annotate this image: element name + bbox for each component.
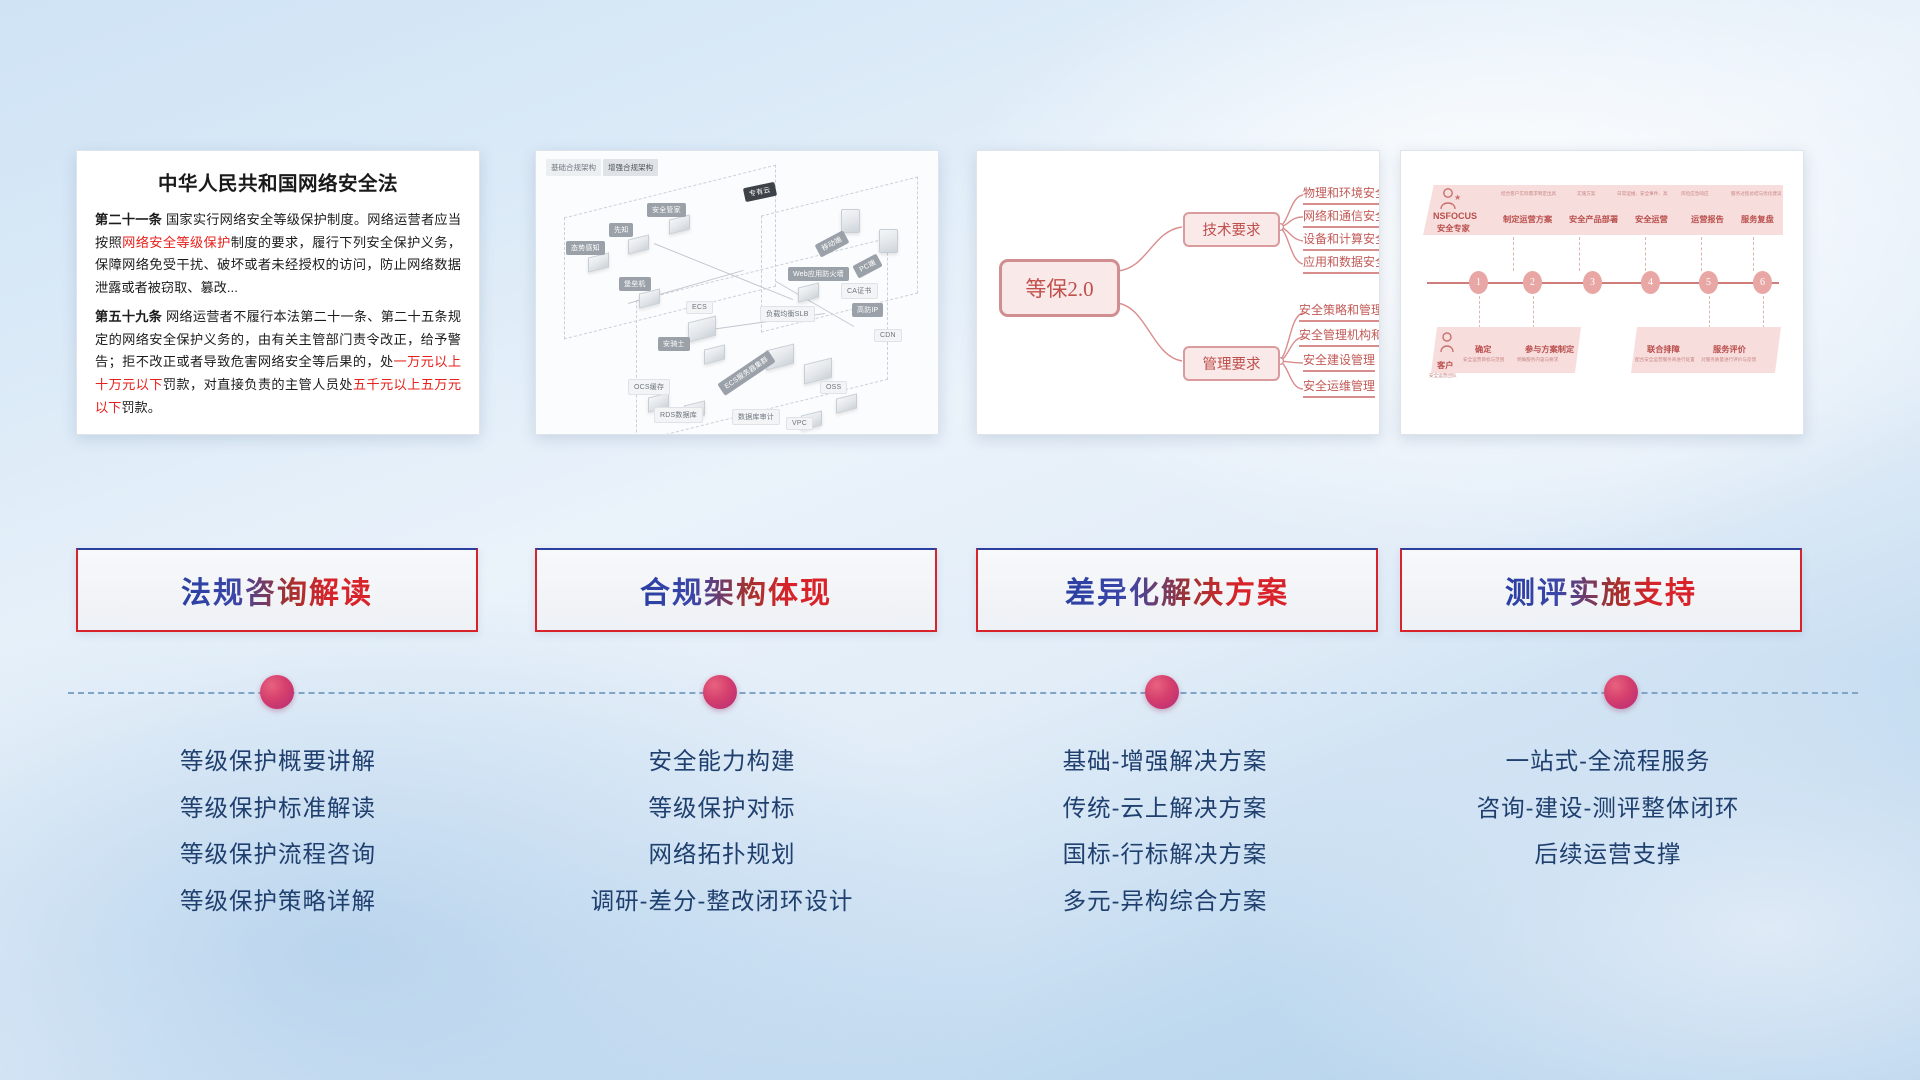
- law-article-59-text-c: 罚款。: [121, 400, 161, 415]
- architecture-node-vpc: VPC: [786, 417, 813, 430]
- timeline-node-4[interactable]: [1604, 675, 1638, 709]
- svg-text:★: ★: [1454, 193, 1461, 202]
- architecture-node-db-audit: 数据库审计: [732, 409, 780, 425]
- expert-icon: ★: [1437, 187, 1465, 213]
- nsfocus-step-dot: 5: [1699, 271, 1718, 294]
- architecture-node-ca-cert: CA证书: [841, 283, 878, 299]
- list-item: 咨询-建设-测评整体闭环: [1398, 787, 1818, 834]
- mindmap-leaf: 安全建设管理: [1303, 351, 1375, 372]
- section-title-box-3[interactable]: 差异化解决方案: [976, 548, 1378, 632]
- nsfocus-top-sub: 服务过程总结与优化建议: [1731, 191, 1782, 197]
- nsfocus-process-diagram: ★ NSFOCUS 安全专家 结合客户实际需求制定出具 制定运营方案 实施方案 …: [1401, 151, 1803, 434]
- nsfocus-expert-role: 安全专家: [1437, 222, 1470, 234]
- mindmap-leaf: 应用和数据安全: [1303, 253, 1380, 274]
- architecture-tab-enhanced[interactable]: 增强合规架构: [603, 159, 658, 176]
- list-item: 等级保护流程咨询: [68, 833, 488, 880]
- nsfocus-top-sub: 风险应急响应: [1681, 191, 1709, 197]
- detail-column-2: 安全能力构建 等级保护对标 网络拓扑规划 调研-差分-整改闭环设计: [512, 740, 932, 926]
- nsfocus-bottom-sub: 安全运营目标与范围: [1463, 357, 1504, 363]
- law-title: 中华人民共和国网络安全法: [95, 167, 461, 196]
- nsfocus-brand: NSFOCUS: [1433, 211, 1477, 221]
- timeline: [0, 662, 1920, 722]
- nsfocus-bottom-step: 联合排障: [1647, 343, 1680, 355]
- detail-column-4: 一站式-全流程服务 咨询-建设-测评整体闭环 后续运营支撑: [1398, 740, 1818, 880]
- nsfocus-customer-role: 客户: [1437, 359, 1453, 371]
- nsfocus-bottom-step: 参与方案制定: [1525, 343, 1574, 355]
- architecture-diagram: 基础合规架构 增强合规架构 专有云 态势感知 先知 安全管家 堡垒机: [536, 151, 938, 434]
- list-item: 等级保护策略详解: [68, 880, 488, 927]
- nsfocus-top-step: 制定运营方案: [1503, 213, 1552, 225]
- nsfocus-top-step: 运营报告: [1691, 213, 1724, 225]
- architecture-node-anqishi: 安骑士: [658, 337, 690, 351]
- detail-column-3: 基础-增强解决方案 传统-云上解决方案 国标-行标解决方案 多元-异构综合方案: [955, 740, 1375, 926]
- list-item: 基础-增强解决方案: [955, 740, 1375, 787]
- architecture-node-slb: 负载均衡SLB: [760, 306, 815, 322]
- architecture-node-waf: Web应用防火墙: [788, 267, 849, 281]
- mindmap-diagram: 等保2.0 技术要求 管理要求 物理和环境安全 网络和通信安全 设备和计算安全 …: [977, 151, 1379, 434]
- timeline-dashed-line: [68, 692, 1858, 694]
- card-compliance-architecture[interactable]: 基础合规架构 增强合规架构 专有云 态势感知 先知 安全管家 堡垒机: [535, 150, 939, 435]
- nsfocus-step-dot: 6: [1753, 271, 1772, 294]
- slide-canvas: 中华人民共和国网络安全法 第二十一条 国家实行网络安全等级保护制度。网络运营者应…: [0, 0, 1920, 1080]
- mindmap-branch-management: 管理要求: [1183, 346, 1280, 381]
- list-item: 后续运营支撑: [1398, 833, 1818, 880]
- card-nsfocus-service-process[interactable]: ★ NSFOCUS 安全专家 结合客户实际需求制定出具 制定运营方案 实施方案 …: [1400, 150, 1804, 435]
- architecture-node-anti-ddos-ip: 高防IP: [852, 303, 883, 317]
- timeline-node-3[interactable]: [1145, 675, 1179, 709]
- timeline-node-1[interactable]: [260, 675, 294, 709]
- nsfocus-top-sub: 结合客户实际需求制定出具: [1501, 191, 1556, 197]
- list-item: 传统-云上解决方案: [955, 787, 1375, 834]
- nsfocus-top-step: 安全运营: [1635, 213, 1668, 225]
- mindmap-leaf: 设备和计算安全: [1303, 230, 1380, 251]
- section-title-box-2[interactable]: 合规架构体现: [535, 548, 937, 632]
- mindmap-leaf: 物理和环境安全: [1303, 184, 1380, 205]
- nsfocus-top-step: 安全产品部署: [1569, 213, 1618, 225]
- list-item: 调研-差分-整改闭环设计: [512, 880, 932, 927]
- list-item: 等级保护标准解读: [68, 787, 488, 834]
- nsfocus-step-dot: 4: [1641, 271, 1660, 294]
- mindmap-branch-technical: 技术要求: [1183, 212, 1280, 247]
- nsfocus-step-dot: 2: [1523, 271, 1542, 294]
- architecture-node-oss: OSS: [820, 381, 847, 394]
- section-title-label-2: 合规架构体现: [640, 568, 832, 612]
- list-item: 等级保护对标: [512, 787, 932, 834]
- nsfocus-bottom-step: 确定: [1475, 343, 1491, 355]
- nsfocus-top-sub: 日常运维、安全事件、高: [1617, 191, 1668, 197]
- architecture-node-security-butler: 安全管家: [647, 203, 686, 217]
- customer-icon: [1437, 331, 1461, 359]
- nsfocus-bottom-sub: 对服务质量进行评价与反馈: [1701, 357, 1756, 363]
- architecture-node-ocs-cache: OCS缓存: [628, 379, 670, 395]
- detail-column-1: 等级保护概要讲解 等级保护标准解读 等级保护流程咨询 等级保护策略详解: [68, 740, 488, 926]
- law-paragraph-21: 第二十一条 国家实行网络安全等级保护制度。网络运营者应当按照网络安全等级保护制度…: [95, 209, 461, 300]
- detail-list-row: 等级保护概要讲解 等级保护标准解读 等级保护流程咨询 等级保护策略详解 安全能力…: [0, 740, 1920, 980]
- card-cybersecurity-law[interactable]: 中华人民共和国网络安全法 第二十一条 国家实行网络安全等级保护制度。网络运营者应…: [76, 150, 480, 435]
- mindmap-leaf: 安全运维管理: [1303, 377, 1375, 398]
- card-mindmap-djcp[interactable]: 等保2.0 技术要求 管理要求 物理和环境安全 网络和通信安全 设备和计算安全 …: [976, 150, 1380, 435]
- list-item: 国标-行标解决方案: [955, 833, 1375, 880]
- law-article-21-label: 第二十一条: [95, 212, 162, 227]
- law-paragraph-59: 第五十九条 网络运营者不履行本法第二十一条、第二十五条规定的网络安全保护义务的，…: [95, 306, 461, 420]
- nsfocus-top-sub: 实施方案: [1577, 191, 1595, 197]
- architecture-node-bastion-host: 堡垒机: [619, 277, 651, 291]
- timeline-node-2[interactable]: [703, 675, 737, 709]
- nsfocus-top-band: [1423, 185, 1783, 235]
- architecture-node-cdn: CDN: [874, 329, 902, 342]
- section-title-box-4[interactable]: 测评实施支持: [1400, 548, 1802, 632]
- nsfocus-top-step: 服务复盘: [1741, 213, 1774, 225]
- law-article-59-label: 第五十九条: [95, 309, 162, 324]
- nsfocus-step-dot: 3: [1583, 271, 1602, 294]
- architecture-tab-basic[interactable]: 基础合规架构: [546, 159, 601, 176]
- mindmap-leaf: 安全管理机构和人员: [1299, 326, 1380, 347]
- preview-card-row: 中华人民共和国网络安全法 第二十一条 国家实行网络安全等级保护制度。网络运营者应…: [0, 150, 1920, 440]
- law-article-21-highlight: 网络安全等级保护: [122, 235, 231, 250]
- list-item: 多元-异构综合方案: [955, 880, 1375, 927]
- architecture-node-xianzhi: 先知: [609, 223, 633, 237]
- nsfocus-step-dot: 1: [1469, 271, 1488, 294]
- architecture-tabs: 基础合规架构 增强合规架构: [546, 159, 658, 176]
- nsfocus-bottom-sub: 明确服务内容与要求: [1517, 357, 1558, 363]
- nsfocus-bottom-step: 服务评价: [1713, 343, 1746, 355]
- section-title-label-3: 差异化解决方案: [1065, 568, 1289, 612]
- mindmap-root: 等保2.0: [999, 259, 1120, 317]
- section-title-label-1: 法规咨询解读: [181, 568, 373, 612]
- mindmap-leaf: 安全策略和管理制度: [1299, 301, 1380, 322]
- list-item: 等级保护概要讲解: [68, 740, 488, 787]
- nsfocus-bottom-sub: 配合安全运营服务商进行处置: [1635, 357, 1695, 363]
- list-item: 网络拓扑规划: [512, 833, 932, 880]
- mindmap-leaf: 网络和通信安全: [1303, 207, 1380, 228]
- law-text-block: 中华人民共和国网络安全法 第二十一条 国家实行网络安全等级保护制度。网络运营者应…: [77, 151, 479, 434]
- section-title-box-1[interactable]: 法规咨询解读: [76, 548, 478, 632]
- law-article-59-text-b: 罚款，对直接负责的主管人员处: [163, 377, 353, 392]
- section-title-row: 法规咨询解读 合规架构体现 差异化解决方案 测评实施支持: [0, 548, 1920, 636]
- nsfocus-customer-sub: 安全运营团队: [1429, 373, 1457, 379]
- list-item: 安全能力构建: [512, 740, 932, 787]
- architecture-node-rds: RDS数据库: [654, 407, 703, 423]
- architecture-node-ecs: ECS: [686, 301, 713, 314]
- list-item: 一站式-全流程服务: [1398, 740, 1818, 787]
- section-title-label-4: 测评实施支持: [1505, 568, 1697, 612]
- architecture-node-situational-awareness: 态势感知: [566, 241, 605, 255]
